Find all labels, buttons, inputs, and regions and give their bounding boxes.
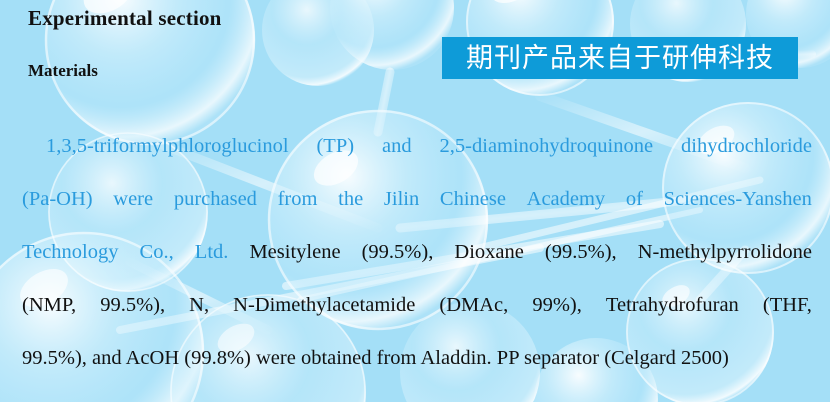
paragraph-line-3: TechnologyCo.,Ltd.Mesitylene(99.5%),Diox…: [22, 226, 812, 279]
section-subheading: Materials: [28, 61, 98, 81]
text-segment: the: [338, 173, 363, 226]
text-segment: (THF,: [763, 279, 812, 332]
text-segment: Tetrahydrofuran: [606, 279, 739, 332]
text-segment: were: [113, 173, 153, 226]
text-segment: purchased: [174, 173, 257, 226]
text-segment: 99.5%), and AcOH (99.8%) were obtained f…: [22, 332, 729, 385]
text-segment: 99%),: [532, 279, 582, 332]
document-page: Experimental section Materials 1,3,5-tri…: [0, 0, 830, 402]
text-segment: Sciences-Yanshen: [664, 173, 812, 226]
text-segment: (DMAc,: [439, 279, 508, 332]
paragraph-line-4: (NMP,99.5%),N,N-Dimethylacetamide(DMAc,9…: [22, 279, 812, 332]
text-segment: (Pa-OH): [22, 173, 93, 226]
text-segment: Ltd.: [195, 226, 229, 279]
text-segment: dihydrochloride: [681, 120, 812, 173]
text-segment: Technology: [22, 226, 118, 279]
text-segment: (NMP,: [22, 279, 76, 332]
watermark-banner: 期刊产品来自于研伸科技: [442, 37, 798, 79]
text-segment: 1,3,5-triformylphloroglucinol: [46, 120, 289, 173]
text-segment: (99.5%),: [545, 226, 617, 279]
materials-paragraph: 1,3,5-triformylphloroglucinol(TP)and2,5-…: [22, 120, 812, 385]
text-segment: (99.5%),: [362, 226, 434, 279]
text-segment: 99.5%),: [100, 279, 165, 332]
page-title: Experimental section: [28, 6, 222, 31]
text-segment: Co.,: [140, 226, 174, 279]
text-segment: Chinese: [440, 173, 506, 226]
text-segment: N-methylpyrrolidone: [638, 226, 812, 279]
watermark-banner-text: 期刊产品来自于研伸科技: [466, 45, 774, 72]
text-segment: of: [626, 173, 643, 226]
text-segment: from: [278, 173, 318, 226]
paragraph-line-1: 1,3,5-triformylphloroglucinol(TP)and2,5-…: [22, 120, 812, 173]
text-segment: N-Dimethylacetamide: [233, 279, 415, 332]
text-segment: N,: [189, 279, 209, 332]
text-segment: Academy: [527, 173, 606, 226]
paragraph-line-2: (Pa-OH)werepurchasedfromtheJilinChineseA…: [22, 173, 812, 226]
text-segment: (TP): [316, 120, 354, 173]
paragraph-line-5: 99.5%), and AcOH (99.8%) were obtained f…: [22, 332, 812, 385]
text-segment: Mesitylene: [249, 226, 340, 279]
text-segment: 2,5-diaminohydroquinone: [440, 120, 654, 173]
text-segment: and: [382, 120, 412, 173]
text-segment: Dioxane: [454, 226, 523, 279]
text-segment: Jilin: [384, 173, 419, 226]
